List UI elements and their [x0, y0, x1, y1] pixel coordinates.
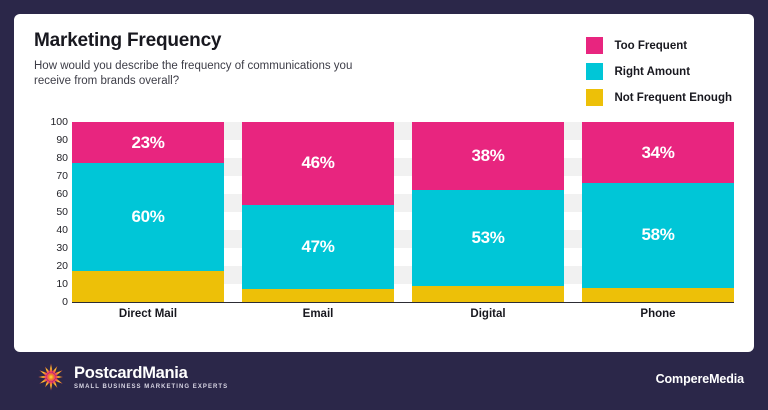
bar-segment[interactable]	[412, 286, 564, 302]
legend-item[interactable]: Right Amount	[586, 63, 732, 80]
bar-value-label: 38%	[471, 146, 504, 166]
y-axis-tick: 90	[34, 134, 68, 146]
bar-segment[interactable]: 60%	[72, 163, 224, 271]
y-axis-tick: 100	[34, 116, 68, 128]
brand-name: PostcardMania	[74, 364, 187, 382]
stacked-bar[interactable]: 23%60%	[72, 122, 224, 302]
x-axis: Direct MailEmailDigitalPhone	[72, 308, 734, 320]
y-axis-tick: 40	[34, 224, 68, 236]
bar-segment[interactable]	[242, 289, 394, 302]
legend-swatch-icon	[586, 89, 603, 106]
brand-logo[interactable]: PostcardMania SMALL BUSINESS MARKETING E…	[36, 362, 228, 392]
plot-area: 1009080706050403020100 23%60%46%47%38%53…	[34, 122, 734, 334]
starburst-icon	[36, 362, 66, 392]
y-axis-tick: 50	[34, 206, 68, 218]
y-axis-tick: 70	[34, 170, 68, 182]
chart-card: Marketing Frequency How would you descri…	[14, 14, 754, 352]
bar-segment[interactable]: 34%	[582, 122, 734, 183]
bar-value-label: 23%	[131, 133, 164, 153]
source-credit: CompereMedia	[656, 372, 744, 386]
bar-value-label: 58%	[641, 225, 674, 245]
bar-segment[interactable]: 47%	[242, 205, 394, 290]
chart-subtitle: How would you describe the frequency of …	[34, 59, 364, 89]
bar-segment[interactable]: 53%	[412, 190, 564, 285]
bar-segment[interactable]: 38%	[412, 122, 564, 190]
bar-value-label: 60%	[131, 207, 164, 227]
y-axis-tick: 80	[34, 152, 68, 164]
bar-segment[interactable]	[582, 288, 734, 302]
bar-value-label: 47%	[301, 237, 334, 257]
bar-value-label: 53%	[471, 228, 504, 248]
plot-canvas: 23%60%46%47%38%53%34%58%	[72, 122, 734, 302]
legend-swatch-icon	[586, 37, 603, 54]
y-axis-tick: 60	[34, 188, 68, 200]
legend-item[interactable]: Too Frequent	[586, 37, 732, 54]
y-axis-tick: 20	[34, 260, 68, 272]
brand-tagline: SMALL BUSINESS MARKETING EXPERTS	[74, 384, 228, 390]
y-axis-tick: 0	[34, 296, 68, 308]
chart-legend: Too FrequentRight AmountNot Frequent Eno…	[586, 37, 732, 106]
stacked-bar[interactable]: 46%47%	[242, 122, 394, 302]
legend-item[interactable]: Not Frequent Enough	[586, 89, 732, 106]
legend-label: Not Frequent Enough	[614, 92, 732, 104]
y-axis-tick: 30	[34, 242, 68, 254]
legend-label: Right Amount	[614, 66, 690, 78]
brand-text: PostcardMania SMALL BUSINESS MARKETING E…	[74, 365, 228, 390]
legend-swatch-icon	[586, 63, 603, 80]
x-axis-label: Digital	[412, 308, 564, 320]
page-title: Marketing Frequency	[34, 30, 221, 52]
stacked-bar[interactable]: 38%53%	[412, 122, 564, 302]
bar-segment[interactable]: 46%	[242, 122, 394, 205]
bar-group: 23%60%46%47%38%53%34%58%	[72, 122, 734, 302]
x-axis-label: Phone	[582, 308, 734, 320]
bar-segment[interactable]	[72, 271, 224, 302]
legend-label: Too Frequent	[614, 40, 687, 52]
bar-segment[interactable]: 58%	[582, 183, 734, 287]
stacked-bar[interactable]: 34%58%	[582, 122, 734, 302]
y-axis-tick: 10	[34, 278, 68, 290]
y-axis: 1009080706050403020100	[34, 122, 68, 302]
x-axis-label: Direct Mail	[72, 308, 224, 320]
footer: PostcardMania SMALL BUSINESS MARKETING E…	[0, 352, 768, 410]
x-axis-label: Email	[242, 308, 394, 320]
bar-value-label: 46%	[301, 153, 334, 173]
bar-segment[interactable]: 23%	[72, 122, 224, 163]
axis-baseline	[72, 302, 734, 304]
bar-value-label: 34%	[641, 143, 674, 163]
